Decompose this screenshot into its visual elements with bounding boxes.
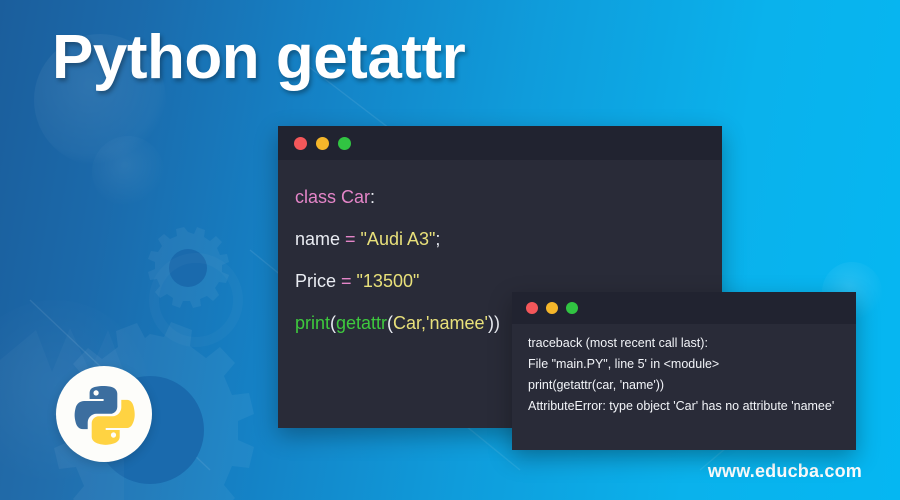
output-content: traceback (most recent call last):File "… — [512, 324, 856, 417]
code-token: "Audi A3" — [361, 229, 436, 249]
code-token: class Car — [295, 187, 370, 207]
close-dot-icon[interactable] — [526, 302, 538, 314]
glow-circle-secondary — [92, 136, 164, 208]
code-token: )) — [488, 313, 500, 333]
output-console-window[interactable]: traceback (most recent call last):File "… — [512, 292, 856, 450]
minimize-dot-icon[interactable] — [546, 302, 558, 314]
code-token: "13500" — [357, 271, 420, 291]
page-title: Python getattr — [52, 22, 465, 93]
code-token: Price — [295, 271, 341, 291]
code-token: ; — [435, 229, 440, 249]
python-logo-icon — [72, 382, 136, 446]
code-window-titlebar — [278, 126, 722, 160]
minimize-dot-icon[interactable] — [316, 137, 329, 150]
output-line: print(getattr(car, 'name')) — [528, 375, 856, 396]
python-logo — [56, 366, 152, 462]
output-window-titlebar — [512, 292, 856, 324]
code-line: name = "Audi A3"; — [295, 218, 722, 260]
brand-url: www.educba.com — [708, 461, 862, 482]
code-token: : — [370, 187, 375, 207]
code-token: Car,'namee' — [393, 313, 488, 333]
close-dot-icon[interactable] — [294, 137, 307, 150]
output-line: File "main.PY", line 5' in <module> — [528, 354, 856, 375]
maximize-dot-icon[interactable] — [338, 137, 351, 150]
code-token: = — [341, 271, 357, 291]
code-token: print — [295, 313, 330, 333]
output-line: traceback (most recent call last): — [528, 333, 856, 354]
code-token: = — [345, 229, 361, 249]
code-token: name — [295, 229, 345, 249]
slide-canvas: Python getattr class Car:name = "Audi A3… — [0, 0, 900, 500]
output-line: AttributeError: type object 'Car' has no… — [528, 396, 856, 417]
maximize-dot-icon[interactable] — [566, 302, 578, 314]
code-line: class Car: — [295, 176, 722, 218]
code-token: getattr — [336, 313, 387, 333]
